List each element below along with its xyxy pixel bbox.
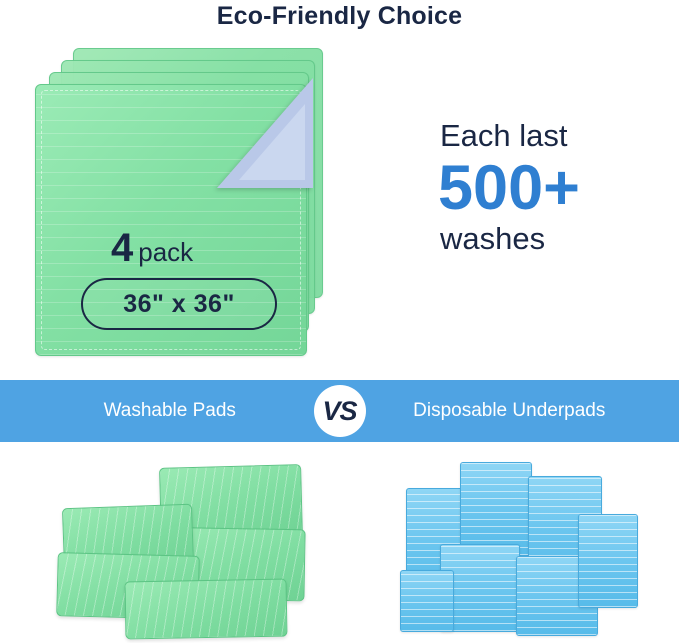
comparison-right-label: Disposable Underpads (340, 400, 679, 422)
disposable-stack (400, 570, 454, 632)
fold-highlight (239, 104, 305, 180)
pack-count-number: 4 (111, 226, 133, 270)
pack-count-word: pack (138, 237, 193, 267)
pack-count-label: 4pack (111, 226, 193, 271)
comparison-left-label: Washable Pads (0, 400, 340, 422)
size-badge: 36" x 36" (81, 278, 277, 330)
claim-line-3: washes (440, 223, 670, 256)
disposable-stack (578, 514, 638, 608)
claim-highlight-number: 500+ (438, 155, 670, 221)
hero-section: Eco-Friendly Choice 4pack 36" x 36" Each… (0, 0, 679, 380)
vs-badge: VS (314, 385, 366, 437)
page-title: Eco-Friendly Choice (0, 2, 679, 31)
disposable-stack (460, 462, 532, 556)
folded-corner-icon (217, 78, 313, 188)
disposable-underpads-illustration (400, 460, 640, 635)
stack-layers (579, 515, 637, 607)
claim-line-1: Each last (440, 120, 670, 153)
folded-pad (125, 579, 288, 640)
comparison-section (0, 442, 679, 643)
stack-layers (461, 463, 531, 555)
fabric-texture (126, 580, 287, 639)
stack-layers (401, 571, 453, 631)
comparison-bar: Washable Pads Disposable Underpads VS (0, 380, 679, 442)
washable-pads-illustration (55, 454, 315, 634)
durability-claim: Each last 500+ washes (400, 120, 670, 255)
pad-stack-illustration: 4pack 36" x 36" (35, 48, 345, 358)
